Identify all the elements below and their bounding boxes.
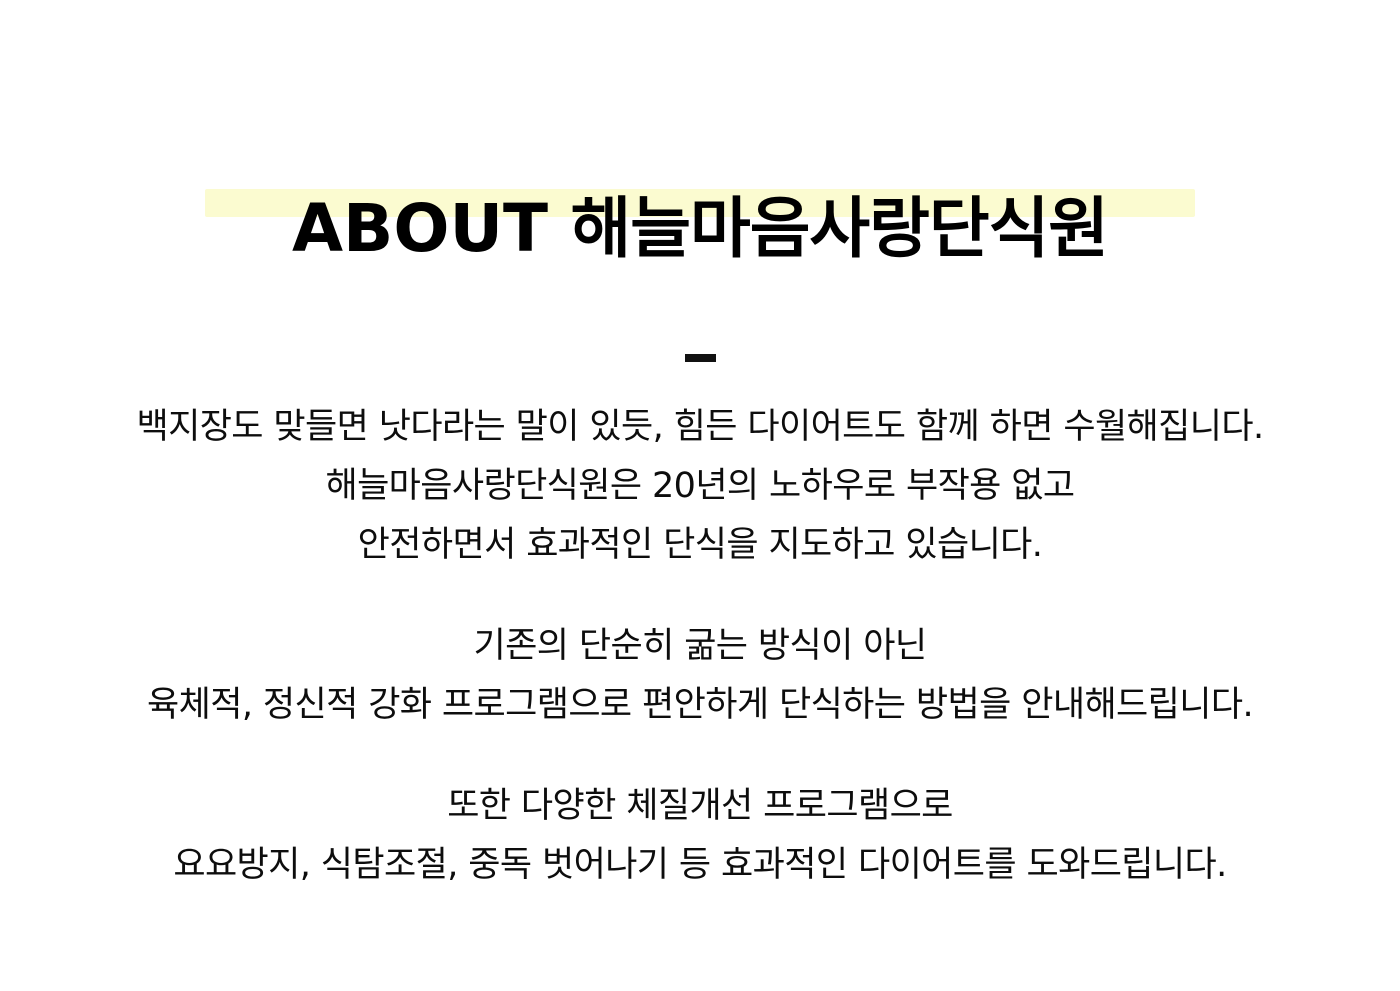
- body-line: 해늘마음사랑단식원은 20년의 노하우로 부작용 없고: [0, 457, 1400, 516]
- paragraph-3: 또한 다양한 체질개선 프로그램으로 요요방지, 식탐조절, 중독 벗어나기 등…: [0, 777, 1400, 895]
- about-body: 백지장도 맞들면 낫다라는 말이 있듯, 힘든 다이어트도 함께 하면 수월해집…: [0, 398, 1400, 895]
- page-title-ko: 해늘마음사랑단식원: [571, 190, 1108, 267]
- body-line: 또한 다양한 체질개선 프로그램으로: [0, 777, 1400, 836]
- title-divider-dash: [685, 354, 716, 362]
- page-title-block: ABOUT 해늘마음사랑단식원: [0, 152, 1400, 306]
- page-title: ABOUT 해늘마음사랑단식원: [292, 196, 1108, 262]
- body-line: 기존의 단순히 굶는 방식이 아닌: [0, 617, 1400, 676]
- page-title-en: ABOUT: [292, 190, 548, 267]
- page-title-separator: [548, 190, 570, 267]
- divider-wrap: [0, 354, 1400, 362]
- paragraph-2: 기존의 단순히 굶는 방식이 아닌 육체적, 정신적 강화 프로그램으로 편안하…: [0, 617, 1400, 735]
- body-line: 요요방지, 식탐조절, 중독 벗어나기 등 효과적인 다이어트를 도와드립니다.: [0, 836, 1400, 895]
- about-section-page: ABOUT 해늘마음사랑단식원 백지장도 맞들면 낫다라는 말이 있듯, 힘든 …: [0, 0, 1400, 991]
- paragraph-1: 백지장도 맞들면 낫다라는 말이 있듯, 힘든 다이어트도 함께 하면 수월해집…: [0, 398, 1400, 575]
- body-line: 안전하면서 효과적인 단식을 지도하고 있습니다.: [0, 516, 1400, 575]
- body-line: 백지장도 맞들면 낫다라는 말이 있듯, 힘든 다이어트도 함께 하면 수월해집…: [0, 398, 1400, 457]
- body-line: 육체적, 정신적 강화 프로그램으로 편안하게 단식하는 방법을 안내해드립니다…: [0, 676, 1400, 735]
